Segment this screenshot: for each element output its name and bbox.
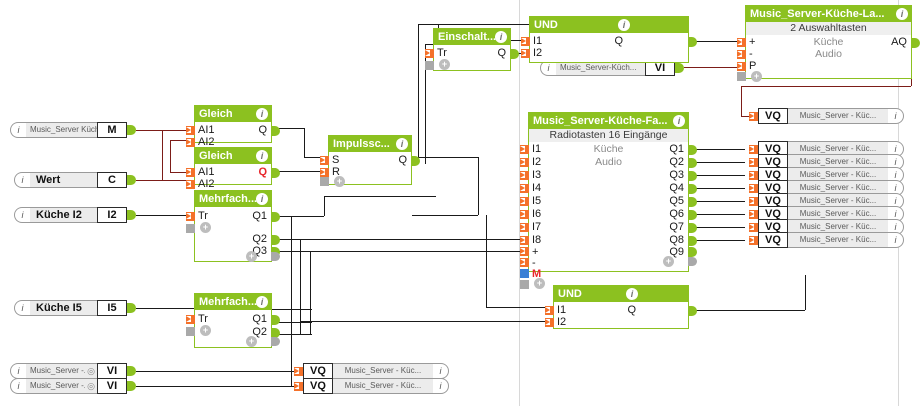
input-nub-icon[interactable] <box>425 61 434 70</box>
output-nub-icon[interactable] <box>688 257 697 266</box>
input-nub-icon[interactable] <box>520 223 529 232</box>
target-icon: ◎ <box>85 378 97 394</box>
pin-tr[interactable]: Tr <box>437 47 447 59</box>
output-nub-icon[interactable] <box>688 158 697 168</box>
block-title: UND <box>534 19 558 31</box>
pin-q[interactable]: Q <box>614 35 623 47</box>
wire <box>136 308 194 309</box>
input-kuche-i5[interactable]: i Küche I5 I5 <box>14 300 136 316</box>
input-nub-icon[interactable] <box>294 382 303 391</box>
input-nub-icon[interactable] <box>520 171 529 180</box>
pin-q2[interactable]: Q2 <box>669 156 684 168</box>
add-input-icon[interactable]: + <box>751 71 762 82</box>
wire <box>689 240 745 241</box>
info-icon[interactable]: i <box>14 172 30 188</box>
output-nub-icon[interactable] <box>688 145 697 155</box>
pin-i1[interactable]: I1 <box>533 35 542 47</box>
output-nub-icon[interactable] <box>271 315 280 325</box>
input-nub-icon[interactable] <box>520 210 529 219</box>
block-header[interactable]: Gleich i <box>195 106 271 122</box>
input-nub-icon[interactable] <box>320 156 329 165</box>
pin-i5[interactable]: I5 <box>532 195 541 207</box>
input-nub-icon[interactable] <box>749 197 758 206</box>
input-nub-icon[interactable] <box>749 184 758 193</box>
input-port[interactable]: M <box>97 122 127 138</box>
pin-q2[interactable]: Q2 <box>252 233 267 245</box>
info-icon[interactable]: i <box>495 31 507 43</box>
add-output-icon[interactable]: + <box>663 256 674 267</box>
wire <box>304 128 305 157</box>
output-nub-icon[interactable] <box>688 184 697 194</box>
wire <box>272 309 312 310</box>
block-title: Impulssc... <box>333 138 390 150</box>
block-subtitle: Radiotasten 16 Eingänge <box>529 129 688 142</box>
pin-q[interactable]: Q <box>497 47 506 59</box>
pin-i4[interactable]: I4 <box>532 182 541 194</box>
block-header[interactable]: UND i <box>530 17 688 33</box>
pin-q1[interactable]: Q1 <box>669 143 684 155</box>
wire <box>162 130 163 180</box>
output-nub-icon[interactable] <box>127 381 136 391</box>
input-nub-icon[interactable] <box>737 50 746 59</box>
add-input-icon[interactable]: + <box>200 325 211 336</box>
add-input-icon[interactable]: + <box>334 176 345 187</box>
wire <box>689 227 745 228</box>
input-nub-icon[interactable] <box>294 367 303 376</box>
pin-q[interactable]: Q <box>398 154 407 166</box>
block-mehrfach-2[interactable]: Mehrfach... i Tr + Q1 Q2 + <box>194 293 272 348</box>
input-music-server-kuche-m[interactable]: i Music_Server Küch... M <box>10 122 136 138</box>
block-header[interactable]: Gleich i <box>195 148 271 164</box>
pin-q8[interactable]: Q8 <box>669 234 684 246</box>
output-nub-icon[interactable] <box>127 175 136 185</box>
input-nub-icon[interactable] <box>749 210 758 219</box>
info-icon[interactable]: i <box>888 108 904 124</box>
input-nub-icon[interactable] <box>520 269 529 278</box>
input-nub-icon[interactable] <box>520 247 529 256</box>
add-output-icon[interactable]: + <box>246 336 257 347</box>
info-icon[interactable]: i <box>433 363 449 379</box>
block-center-line-1: Küche <box>529 143 688 155</box>
input-nub-icon[interactable] <box>520 197 529 206</box>
input-nub-icon[interactable] <box>749 145 758 154</box>
info-icon[interactable]: i <box>256 108 268 120</box>
output-nub-icon[interactable] <box>688 306 697 316</box>
info-icon[interactable]: i <box>14 300 30 316</box>
input-label: Music_Server -... <box>26 378 85 394</box>
block-header[interactable]: Einschalt... i <box>434 29 510 45</box>
input-nub-icon[interactable] <box>737 62 746 71</box>
info-icon[interactable]: i <box>896 8 908 20</box>
output-nub-icon[interactable] <box>271 252 280 261</box>
info-icon[interactable]: i <box>396 138 408 150</box>
info-icon[interactable]: i <box>256 296 268 308</box>
block-title: Music_Server-Küche-Fa... <box>533 115 668 127</box>
output-nub-icon[interactable] <box>127 125 136 135</box>
input-nub-icon[interactable] <box>737 72 746 81</box>
info-icon[interactable]: i <box>10 363 26 379</box>
input-port[interactable]: VI <box>97 378 127 394</box>
wire <box>689 162 745 163</box>
block-music-server-kueche-favoriten[interactable]: Music_Server-Küche-Fa... i Radiotasten 1… <box>528 112 689 272</box>
vq-lautstaerke[interactable]: VQ Music_Server - Küc... i <box>749 108 904 124</box>
pin-s[interactable]: S <box>332 154 339 166</box>
pin-q3[interactable]: Q3 <box>669 169 684 181</box>
input-nub-icon[interactable] <box>545 306 554 315</box>
block-impulsschalter[interactable]: Impulssc... i S R Q + <box>328 135 412 185</box>
block-body: Tr + Q1 Q2 + <box>195 310 271 348</box>
block-title: Mehrfach... <box>199 193 257 205</box>
pin-tr[interactable]: Tr <box>198 210 208 222</box>
input-nub-icon[interactable] <box>749 236 758 245</box>
output-nub-icon[interactable] <box>688 197 697 207</box>
pin-i2[interactable]: I2 <box>533 47 542 59</box>
block-einschaltverzoegerung[interactable]: Einschalt... i Tr Q + <box>433 28 511 71</box>
pin-tr[interactable]: Tr <box>198 313 208 325</box>
block-body: + - P Küche Audio AQ + <box>746 35 911 78</box>
pin-i1[interactable]: I1 <box>557 304 566 316</box>
output-nub-icon[interactable] <box>688 210 697 220</box>
add-input-icon[interactable]: + <box>200 222 211 233</box>
input-wert[interactable]: i Wert C <box>14 172 136 188</box>
input-nub-icon[interactable] <box>520 236 529 245</box>
block-header[interactable]: Mehrfach... i <box>195 191 271 207</box>
wire <box>418 24 419 157</box>
wire <box>741 116 749 117</box>
output-nub-icon[interactable] <box>127 303 136 313</box>
wire <box>425 44 433 45</box>
input-nub-icon[interactable] <box>520 158 529 167</box>
block-title: Einschalt... <box>438 31 496 43</box>
wire <box>741 86 742 116</box>
input-nub-icon[interactable] <box>545 318 554 327</box>
wire <box>136 371 294 372</box>
output-nub-icon[interactable] <box>411 156 420 166</box>
input-nub-icon[interactable] <box>320 168 329 177</box>
wire <box>324 196 436 197</box>
add-input-icon[interactable]: + <box>439 59 450 70</box>
block-header[interactable]: UND i <box>554 286 688 302</box>
wire <box>418 24 438 25</box>
wire <box>170 140 171 172</box>
block-body: Tr Q + <box>434 45 510 71</box>
input-nub-icon[interactable] <box>749 171 758 180</box>
block-header[interactable]: Impulssc... i <box>329 136 411 152</box>
info-icon[interactable]: i <box>433 378 449 394</box>
pin-q1[interactable]: Q1 <box>252 210 267 222</box>
block-body: AI1 AI2 Q <box>195 122 271 143</box>
pin-i2[interactable]: I2 <box>557 316 566 328</box>
pin-ai1[interactable]: AI1 <box>198 166 215 178</box>
vq-bottom-2[interactable]: VQ Music_Server - Küc... i <box>294 378 449 394</box>
input-nub-icon[interactable] <box>186 327 195 336</box>
input-music-server-vi-1[interactable]: i Music_Server -... ◎ VI <box>10 363 136 379</box>
output-nub-icon[interactable] <box>688 247 697 257</box>
input-nub-icon[interactable] <box>320 177 329 186</box>
output-nub-icon[interactable] <box>271 235 280 245</box>
wire <box>689 188 745 189</box>
info-icon[interactable]: i <box>10 378 26 394</box>
input-nub-icon[interactable] <box>186 168 195 177</box>
block-title: Mehrfach... <box>199 296 257 308</box>
output-nub-icon[interactable] <box>911 38 920 48</box>
diagram-canvas[interactable]: i Music_Server Küch... M i Wert C i Küch… <box>0 0 922 406</box>
wire <box>684 67 745 68</box>
info-icon[interactable]: i <box>673 115 685 127</box>
output-nub-icon[interactable] <box>675 63 684 73</box>
wire <box>486 215 487 307</box>
pin-q7[interactable]: Q7 <box>669 221 684 233</box>
pin-q6[interactable]: Q6 <box>669 208 684 220</box>
info-icon[interactable]: i <box>14 207 30 223</box>
wire <box>324 196 325 216</box>
block-title: Gleich <box>199 150 233 162</box>
pin-q[interactable]: Q <box>258 166 267 178</box>
output-port[interactable]: VQ <box>758 108 788 124</box>
pin-q1[interactable]: Q1 <box>252 313 267 325</box>
block-header[interactable]: Music_Server-Küche-Fa... i <box>529 113 688 129</box>
output-nub-icon[interactable] <box>688 236 697 246</box>
wire <box>300 321 553 322</box>
input-nub-icon[interactable] <box>520 184 529 193</box>
wire <box>136 386 294 387</box>
block-center-line-1: Küche <box>746 36 911 48</box>
input-nub-icon[interactable] <box>186 180 195 189</box>
input-label: Wert <box>30 172 97 188</box>
input-nub-icon[interactable] <box>425 49 434 58</box>
block-center-line-2: Audio <box>529 156 688 168</box>
output-label: Music_Server - Küc... <box>788 232 888 248</box>
output-label: Music_Server - Küc... <box>788 108 888 124</box>
info-icon[interactable]: i <box>888 232 904 248</box>
input-port[interactable]: I5 <box>97 300 127 316</box>
block-mehrfach-1[interactable]: Mehrfach... i Tr + Q1 Q2 Q3 + <box>194 190 272 262</box>
pin-q4[interactable]: Q4 <box>669 182 684 194</box>
wire <box>689 201 745 202</box>
pin-i7[interactable]: I7 <box>532 221 541 233</box>
block-body: Tr + Q1 Q2 Q3 + <box>195 207 271 262</box>
input-nub-icon[interactable] <box>186 138 195 147</box>
pin-q5[interactable]: Q5 <box>669 195 684 207</box>
vq-bottom-1[interactable]: VQ Music_Server - Küc... i <box>294 363 449 379</box>
add-input-icon[interactable]: + <box>534 278 545 289</box>
wire <box>741 86 911 87</box>
output-nub-icon[interactable] <box>688 171 697 181</box>
input-nub-icon[interactable] <box>737 38 746 47</box>
block-gleich-2[interactable]: Gleich i AI1 AI2 Q <box>194 147 272 185</box>
output-nub-icon[interactable] <box>688 37 697 47</box>
output-nub-icon[interactable] <box>271 168 280 178</box>
output-port[interactable]: VQ <box>303 378 333 394</box>
wire <box>689 149 745 150</box>
input-nub-icon[interactable] <box>749 112 758 121</box>
input-kuche-i2[interactable]: i Küche I2 I2 <box>14 207 136 223</box>
info-icon[interactable]: i <box>256 193 268 205</box>
pin-i3[interactable]: I3 <box>532 169 541 181</box>
input-port[interactable]: VI <box>97 363 127 379</box>
wire <box>689 214 745 215</box>
output-label: Music_Server - Küc... <box>333 363 433 379</box>
input-label: Music_Server -... <box>26 363 85 379</box>
output-nub-icon[interactable] <box>271 212 280 222</box>
output-nub-icon[interactable] <box>271 337 280 346</box>
output-nub-icon[interactable] <box>127 366 136 376</box>
pin-q[interactable]: Q <box>258 124 267 136</box>
input-nub-icon[interactable] <box>186 212 195 221</box>
output-nub-icon[interactable] <box>271 126 280 136</box>
wire <box>805 275 806 310</box>
block-header[interactable]: Mehrfach... i <box>195 294 271 310</box>
info-icon[interactable]: i <box>256 150 268 162</box>
wire <box>291 216 292 356</box>
pin-i8[interactable]: I8 <box>532 234 541 246</box>
block-header[interactable]: Music_Server-Küche-La... i <box>746 6 911 22</box>
info-icon[interactable]: i <box>626 288 638 300</box>
block-center-line-2: Audio <box>746 48 911 60</box>
output-nub-icon[interactable] <box>127 210 136 220</box>
input-nub-icon[interactable] <box>520 280 529 289</box>
block-title: Gleich <box>199 108 233 120</box>
wire <box>689 175 745 176</box>
pin-i6[interactable]: I6 <box>532 208 541 220</box>
block-body: AI1 AI2 Q <box>195 164 271 185</box>
pin-q[interactable]: Q <box>627 304 636 316</box>
block-title: UND <box>558 288 582 300</box>
wire <box>478 157 479 215</box>
input-nub-icon[interactable] <box>186 224 195 233</box>
pin-ai2[interactable]: AI2 <box>198 178 215 190</box>
vq-favorit-q8[interactable]: VQ Music_Server - Küc... i <box>749 232 904 248</box>
block-title: Music_Server-Küche-La... <box>750 8 885 20</box>
wire <box>136 180 170 181</box>
block-und-top[interactable]: UND i I1 I2 Q <box>529 16 689 63</box>
output-nub-icon[interactable] <box>510 49 519 59</box>
target-icon: ◎ <box>85 363 97 379</box>
add-output-icon[interactable]: + <box>246 251 257 262</box>
block-body: S R Q + <box>329 152 411 185</box>
wire <box>486 307 553 308</box>
block-body: I1 I2 I3 I4 I5 I6 I7 I8 + - M Küche Audi… <box>529 142 688 271</box>
input-nub-icon[interactable] <box>749 223 758 232</box>
info-icon[interactable]: i <box>618 19 630 31</box>
block-body: I1 I2 Q <box>554 302 688 329</box>
input-port[interactable]: C <box>97 172 127 188</box>
input-label: Music_Server Küch... <box>26 122 97 138</box>
pin-ai1[interactable]: AI1 <box>198 124 215 136</box>
input-port[interactable]: I2 <box>97 207 127 223</box>
input-nub-icon[interactable] <box>186 126 195 135</box>
input-nub-icon[interactable] <box>186 315 195 324</box>
input-label: Küche I2 <box>30 207 97 223</box>
wire <box>412 215 478 216</box>
block-gleich-1[interactable]: Gleich i AI1 AI2 Q <box>194 105 272 143</box>
wire <box>300 239 301 334</box>
input-nub-icon[interactable] <box>520 258 529 267</box>
wire <box>438 24 529 25</box>
input-label: Küche I5 <box>30 300 97 316</box>
input-nub-icon[interactable] <box>520 145 529 154</box>
output-label: Music_Server - Küc... <box>333 378 433 394</box>
block-body: I1 I2 Q <box>530 33 688 63</box>
output-port[interactable]: VQ <box>758 232 788 248</box>
wire <box>689 310 805 311</box>
input-nub-icon[interactable] <box>521 49 530 58</box>
block-music-server-kueche-lautstaerke[interactable]: Music_Server-Küche-La... i 2 Auswahltast… <box>745 5 912 79</box>
wire <box>291 356 292 386</box>
output-port[interactable]: VQ <box>303 363 333 379</box>
output-nub-icon[interactable] <box>688 223 697 233</box>
pin-aq[interactable]: AQ <box>891 36 907 48</box>
wire <box>412 157 478 158</box>
info-icon[interactable]: i <box>10 122 26 138</box>
block-subtitle: 2 Auswahltasten <box>746 22 911 35</box>
block-und-bottom[interactable]: UND i I1 I2 Q <box>553 285 689 329</box>
input-nub-icon[interactable] <box>749 158 758 167</box>
input-nub-icon[interactable] <box>521 37 530 46</box>
input-music-server-vi-2[interactable]: i Music_Server -... ◎ VI <box>10 378 136 394</box>
